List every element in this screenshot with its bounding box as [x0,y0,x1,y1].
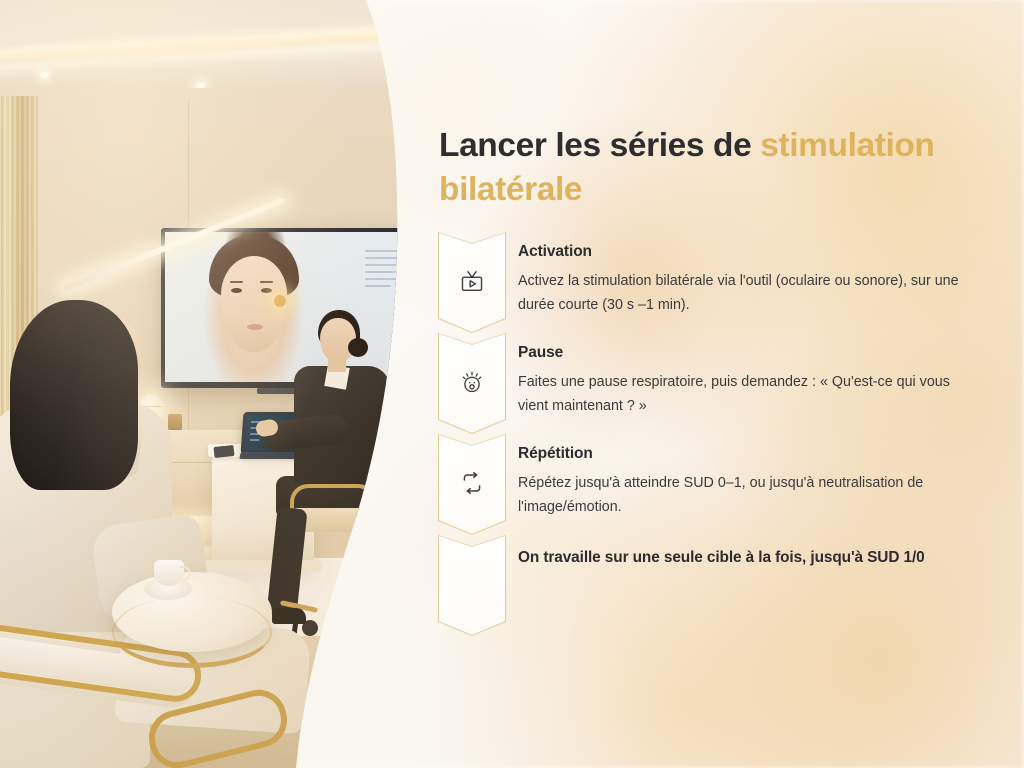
tv-portrait-brow [230,281,243,283]
step-text: On travaille sur une seule cible à la fo… [518,535,998,570]
tv-play-icon [438,268,506,294]
title-lead: Lancer les séries de [439,127,760,164]
client-hair [10,300,138,490]
coffee-table-edge [112,596,272,668]
step-item-repetition[interactable]: Répétition Répétez jusqu'à atteindre SUD… [438,434,998,535]
repeat-loop-icon [438,470,506,496]
steps-list: Activation Activez la stimulation bilaté… [438,232,998,639]
tv-portrait-brow [260,281,273,283]
content-panel: Lancer les séries de stimulationbilatéra… [438,0,998,768]
coffee-cup [154,560,184,586]
title-accent-1: stimulation [760,127,934,164]
podium-base [204,560,322,572]
step-text: Activation Activez la stimulation bilaté… [518,232,998,317]
title-accent-2: bilatérale [439,171,582,208]
step-text: Pause Faites une pause respiratoire, pui… [518,333,998,418]
step-description: Activez la stimulation bilatérale via l'… [518,270,970,317]
step-badge [438,333,506,434]
step-item-activation[interactable]: Activation Activez la stimulation bilaté… [438,232,998,333]
smartphone [213,445,234,458]
ceiling-spotlight [40,72,49,78]
conclusion-text: On travaille sur une seule cible à la fo… [518,546,966,570]
decor-vase [168,414,182,430]
step-title: Pause [518,344,998,362]
step-title: Activation [518,243,998,261]
surprised-face-icon [438,369,506,395]
therapist-hair-bun [348,338,368,357]
beam-focus-point [274,295,286,307]
step-text: Répétition Répétez jusqu'à atteindre SUD… [518,434,998,519]
step-item-conclusion[interactable]: On travaille sur une seule cible à la fo… [438,535,998,639]
page-title: Lancer les séries de stimulationbilatéra… [439,124,975,212]
tv-screen [165,232,417,382]
step-description: Répétez jusqu'à atteindre SUD 0–1, ou ju… [518,472,970,519]
step-badge [438,535,506,636]
step-badge [438,232,506,333]
step-description: Faites une pause respiratoire, puis dema… [518,371,970,418]
wall-television [161,228,420,388]
slide-root: Lancer les séries de stimulationbilatéra… [0,0,1024,768]
step-badge [438,434,506,535]
tv-portrait-lips [247,324,263,330]
therapist-shoe [272,608,306,624]
step-title: Répétition [518,445,998,463]
tv-portrait-eye [231,288,242,293]
tv-portrait-eye [261,288,272,293]
step-item-pause[interactable]: Pause Faites une pause respiratoire, pui… [438,333,998,434]
